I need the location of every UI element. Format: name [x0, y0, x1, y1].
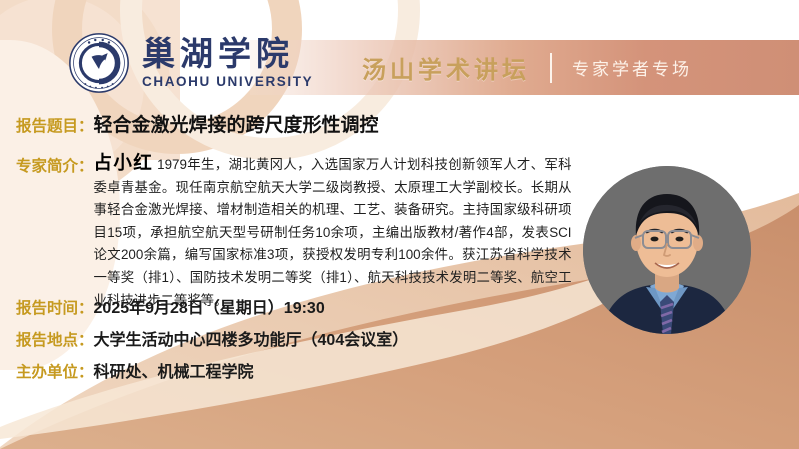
banner-divider [550, 53, 552, 83]
organizer-value: 科研处、机械工程学院 [94, 358, 254, 382]
speaker-bio-text: 1979年生，湖北黄冈人，入选国家万人计划科技创新领军人才、军科委卓青基金。现任… [94, 157, 572, 308]
report-place-value: 大学生活动中心四楼多功能厅（404会议室） [94, 326, 409, 350]
report-title-value: 轻合金激光焊接的跨尺度形性调控 [94, 110, 379, 137]
speaker-name: 占小红 [94, 152, 154, 173]
speaker-bio-row: 专家简介： 占小红 1979年生，湖北黄冈人，入选国家万人计划科技创新领军人才、… [16, 152, 576, 312]
banner-title: 汤山学术讲坛 [362, 50, 530, 85]
report-place-label: 报告地点： [16, 328, 94, 350]
speaker-portrait-image [583, 166, 751, 334]
report-time-value: 2025年9月28日（星期日）19:30 [94, 294, 325, 318]
report-place-row: 报告地点： 大学生活动中心四楼多功能厅（404会议室） [16, 326, 408, 350]
university-name-en: CHAOHU UNIVERSITY [142, 75, 313, 89]
organizer-label: 主办单位： [16, 360, 94, 382]
report-title-row: 报告题目： 轻合金激光焊接的跨尺度形性调控 [16, 110, 379, 137]
university-seal-icon [68, 32, 130, 94]
speaker-portrait [583, 166, 751, 334]
poster-header: 汤山学术讲坛 专家学者专场 [0, 0, 799, 104]
organizer-row: 主办单位： 科研处、机械工程学院 [16, 358, 254, 382]
report-title-label: 报告题目： [16, 114, 94, 136]
lecture-poster: 汤山学术讲坛 专家学者专场 [0, 0, 799, 449]
university-brand: 巢湖学院 CHAOHU UNIVERSITY [68, 32, 313, 94]
speaker-bio-body: 占小红 1979年生，湖北黄冈人，入选国家万人计划科技创新领军人才、军科委卓青基… [94, 152, 572, 312]
banner-subtitle: 专家学者专场 [572, 55, 692, 80]
university-name-cn: 巢湖学院 [142, 37, 313, 70]
report-time-label: 报告时间： [16, 296, 94, 318]
event-banner: 汤山学术讲坛 专家学者专场 [250, 40, 799, 95]
report-time-row: 报告时间： 2025年9月28日（星期日）19:30 [16, 294, 325, 318]
speaker-bio-label: 专家简介： [16, 152, 94, 176]
